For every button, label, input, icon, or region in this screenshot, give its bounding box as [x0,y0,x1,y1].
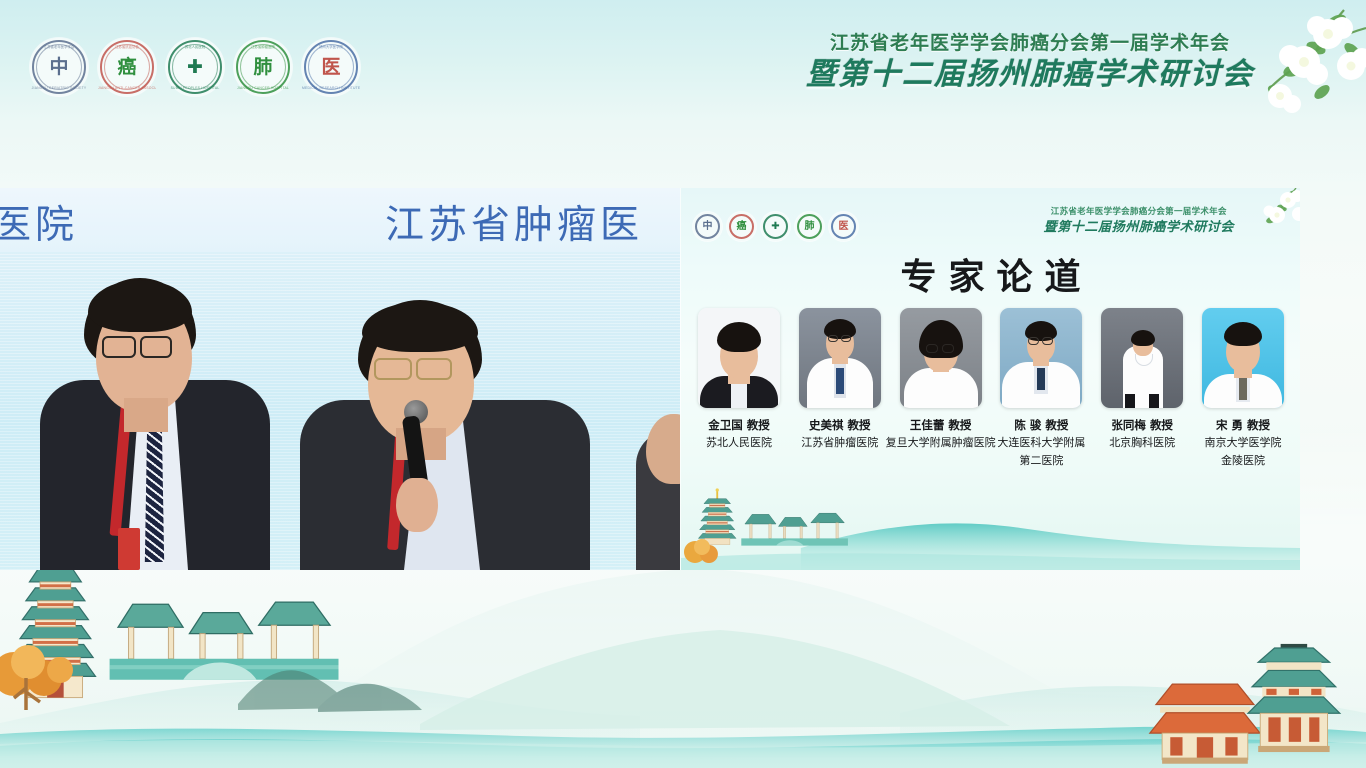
portrait-trousers [1125,394,1135,408]
expert-affiliation: 南京大学医学院 [1195,436,1291,451]
portrait-glasses [828,335,838,342]
logo-bottom-text: SUBEI PEOPLES HOSPITAL [166,86,224,90]
speaker-hand [396,478,438,532]
mountain-icon [238,670,422,712]
expert-affiliation-line2: 第二医院 [993,454,1089,469]
conference-title: 江苏省老年医学学会肺癌分会第一届学术年会 暨第十二届扬州肺癌学术研讨会 [806,34,1254,90]
portrait-white-coat [904,368,978,408]
slide-organization-logos: 中 癌 ✚ 肺 医 [693,212,858,241]
conference-title-line2: 暨第十二届扬州肺癌学术研讨会 [806,60,1254,90]
water-foam-icon [0,740,1366,768]
panelist-speaking [300,300,590,570]
slide-logo-geriatric-society: 中 [693,212,722,241]
logo-glyph: 癌 [117,58,136,77]
expert-name: 宋 勇 教授 [1195,417,1291,433]
broadcast-stage: 医院 江苏省肿瘤医 [0,188,1300,570]
logo-glyph: 中 [49,58,68,77]
panelist-glasses-right [140,336,172,358]
portrait-tie [836,368,844,394]
portrait-hair [1131,330,1155,346]
slide-logo-subei-hospital: ✚ [761,212,790,241]
logo-glyph: 癌 [737,222,747,232]
logo-top-text: 江苏省老年医学学会 [30,44,88,49]
expert-card[interactable]: 史美祺 教授 江苏省肿瘤医院 [792,308,888,451]
logo-glyph: 中 [703,222,713,232]
portrait-glasses-right [841,335,851,342]
medical-research-institute-logo: 扬州大学医学院 医 MEDICAL RESEARCH INSTITUTE [302,38,360,96]
logo-top-text: 江苏省肿瘤医院 [234,44,292,49]
panelist-tie [144,412,165,562]
expert-portrait [698,308,780,408]
logo-glyph: ✚ [771,222,779,232]
slide-conference-title: 江苏省老年医学学会肺癌分会第一届学术年会 暨第十二届扬州肺癌学术研讨会 [1044,208,1234,234]
pagoda-icon [698,488,736,544]
water-icon [0,726,1366,768]
logo-bottom-text: JIANGSU CANCER HOSPITAL [234,86,292,90]
slide-logo-medical-institute: 医 [829,212,858,241]
slide-logo-anti-cancer: 癌 [727,212,756,241]
portrait-hair [1224,322,1262,346]
logo-glyph: 医 [839,222,849,232]
slide-conference-title-line2: 暨第十二届扬州肺癌学术研讨会 [1044,221,1234,234]
expert-affiliation: 北京胸科医院 [1094,436,1190,451]
expert-name: 张同梅 教授 [1094,417,1190,433]
backdrop-text-center: 江苏省肿瘤医 [385,194,643,250]
organization-logos: 江苏省老年医学学会 中 JIANGSU GERIATRIC SOCIETY 江苏… [30,38,360,96]
expert-portrait [799,308,881,408]
logo-bottom-text: JIANGSU ANTI-CANCER ASSOCIATION [98,86,156,90]
mountain-icon [420,630,1010,730]
logo-glyph: 肺 [805,222,815,232]
slide-blossom-icon [1240,188,1300,248]
expert-portrait [1101,308,1183,408]
expert-affiliation: 苏北人民医院 [691,436,787,451]
cancer-hospital-logo: 江苏省肿瘤医院 肺 JIANGSU CANCER HOSPITAL [234,38,292,96]
expert-name: 陈 骏 教授 [993,417,1089,433]
expert-portrait [1000,308,1082,408]
expert-card[interactable]: 张同梅 教授 北京胸科医院 [1094,308,1190,451]
panelist-badge [118,528,140,570]
portrait-trousers-right [1149,394,1159,408]
expert-name: 史美祺 教授 [792,417,888,433]
speaker-hair-top [362,302,478,352]
expert-affiliation: 大连医科大学附属 [977,436,1105,451]
portrait-glasses-right [942,344,954,353]
logo-glyph: 肺 [253,58,272,77]
live-camera-feed[interactable]: 医院 江苏省肿瘤医 [0,188,680,570]
jiangsu-geriatric-medicine-society-logo: 江苏省老年医学学会 中 JIANGSU GERIATRIC SOCIETY [30,38,88,96]
expert-card[interactable]: 王佳蕾 教授 复旦大学附属肿瘤医院 [893,308,989,451]
speaker-glasses-right [416,358,452,380]
expert-portrait [900,308,982,408]
logo-glyph: 医 [321,58,340,77]
expert-affiliation: 江苏省肿瘤医院 [792,436,888,451]
logo-top-text: 扬州大学医学院 [302,44,360,49]
slide-heading: 专家论道 [681,248,1300,300]
panelist-partial [636,400,680,570]
panelist-listening [40,270,270,570]
stage-backdrop-banner: 医院 江苏省肿瘤医 [0,188,680,252]
expert-affiliation-line2: 金陵医院 [1195,454,1291,469]
logo-bottom-text: JIANGSU GERIATRIC SOCIETY [30,86,88,90]
logo-top-text: 苏北人民医院 [166,44,224,49]
pavilion-icon [741,513,848,545]
expert-name: 金卫国 教授 [691,417,787,433]
panelist-neck [124,398,168,432]
backdrop-text-left: 医院 [0,194,78,250]
tower-green-roof-icon [1248,644,1340,752]
expert-card[interactable]: 宋 勇 教授 南京大学医学院 金陵医院 [1195,308,1291,469]
conference-title-line1: 江苏省老年医学学会肺癌分会第一届学术年会 [806,34,1254,53]
subei-peoples-hospital-logo: 苏北人民医院 ✚ SUBEI PEOPLES HOSPITAL [166,38,224,96]
expert-card[interactable]: 金卫国 教授 苏北人民医院 [691,308,787,451]
page-header: 江苏省老年医学学会 中 JIANGSU GERIATRIC SOCIETY 江苏… [0,0,1366,125]
autumn-tree-icon [0,645,73,710]
portrait-tie [1239,378,1247,400]
logo-glyph: ✚ [187,58,203,77]
logo-top-text: 江苏省抗癌协会 [98,44,156,49]
slide-landscape-scenery [681,484,1300,570]
hall-orange-roof-icon [1150,684,1260,764]
portrait-glasses-right [1042,337,1053,345]
anti-cancer-association-logo: 江苏省抗癌协会 癌 JIANGSU ANTI-CANCER ASSOCIATIO… [98,38,156,96]
panelist-glasses [102,336,136,358]
portrait-glasses [926,344,938,353]
portrait-tie [1037,368,1045,390]
portrait-hair [717,322,761,352]
slide-logo-cancer-hospital: 肺 [795,212,824,241]
logo-bottom-text: MEDICAL RESEARCH INSTITUTE [302,86,360,90]
speaker-glasses [374,358,412,380]
expert-card[interactable]: 陈 骏 教授 大连医科大学附属 第二医院 [993,308,1089,469]
expert-name: 王佳蕾 教授 [893,417,989,433]
pavilion-bridge-icon [110,602,339,680]
presentation-slide[interactable]: 中 癌 ✚ 肺 医 江苏 [680,188,1300,570]
panelist-hair-top [88,280,192,332]
slide-conference-title-line1: 江苏省老年医学学会肺癌分会第一届学术年会 [1044,208,1234,217]
portrait-glasses [1028,337,1039,345]
expert-panel-list: 金卫国 教授 苏北人民医院 [691,308,1291,469]
expert-portrait [1202,308,1284,408]
app-background: 江苏省老年医学学会 中 JIANGSU GERIATRIC SOCIETY 江苏… [0,0,1366,768]
